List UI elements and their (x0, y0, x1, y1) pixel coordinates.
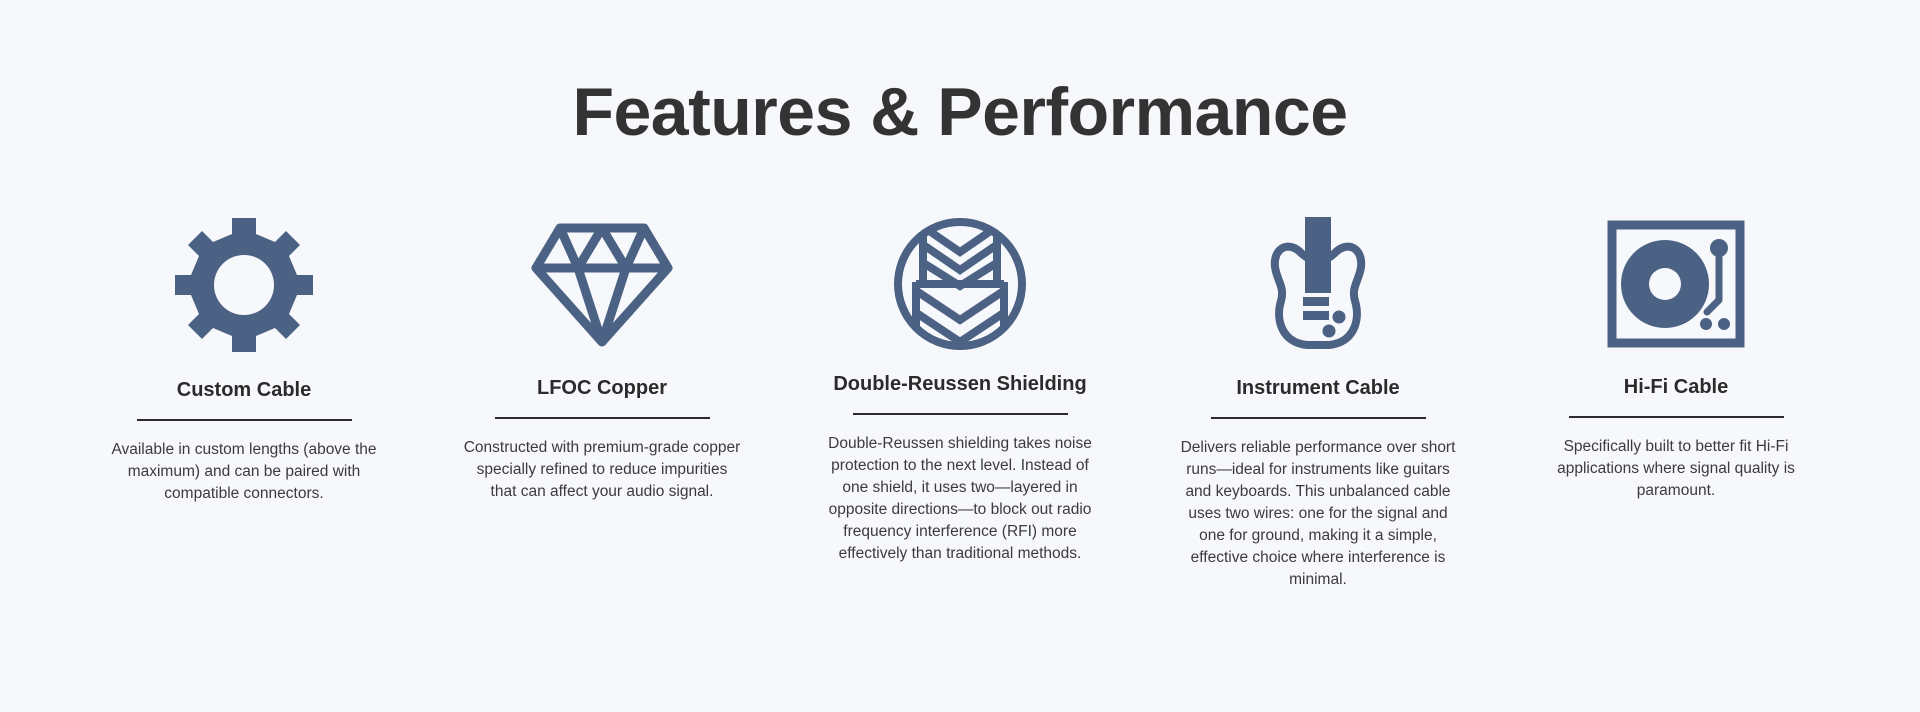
feature-title: Hi-Fi Cable (1624, 375, 1728, 399)
title-divider (495, 417, 710, 419)
feature-title: Custom Cable (177, 378, 311, 402)
feature-title: Double-Reussen Shielding (833, 372, 1086, 396)
gear-icon (175, 214, 313, 356)
feature-description: Delivers reliable performance over short… (1179, 437, 1457, 591)
feature-title: LFOC Copper (537, 376, 667, 400)
feature-card-double-reussen-shielding: Double-Reussen Shielding Double-Reussen … (781, 214, 1139, 581)
title-divider (1211, 417, 1426, 419)
feature-card-hifi-cable: Hi-Fi Cable Specifically built to better… (1497, 214, 1855, 518)
title-divider (137, 419, 352, 421)
turntable-icon (1607, 214, 1745, 354)
title-divider (853, 413, 1068, 415)
page-title: Features & Performance (0, 0, 1920, 146)
electric-guitar-icon (1265, 214, 1371, 354)
title-divider (1569, 416, 1784, 418)
features-performance-section: Features & Performance Custom Cable Avai… (0, 0, 1920, 712)
feature-description: Constructed with premium-grade copper sp… (463, 437, 741, 503)
feature-card-custom-cable: Custom Cable Available in custom lengths… (65, 214, 423, 521)
feature-card-instrument-cable: Instrument Cable Delivers reliable perfo… (1139, 214, 1497, 607)
feature-title: Instrument Cable (1236, 376, 1399, 400)
feature-description: Specifically built to better fit Hi-Fi a… (1537, 436, 1815, 502)
feature-description: Available in custom lengths (above the m… (105, 439, 383, 505)
feature-columns: Custom Cable Available in custom lengths… (0, 214, 1920, 607)
feature-description: Double-Reussen shielding takes noise pro… (821, 433, 1099, 565)
diamond-icon (530, 214, 674, 354)
feature-card-lfoc-copper: LFOC Copper Constructed with premium-gra… (423, 214, 781, 519)
braided-shield-icon (892, 214, 1028, 354)
